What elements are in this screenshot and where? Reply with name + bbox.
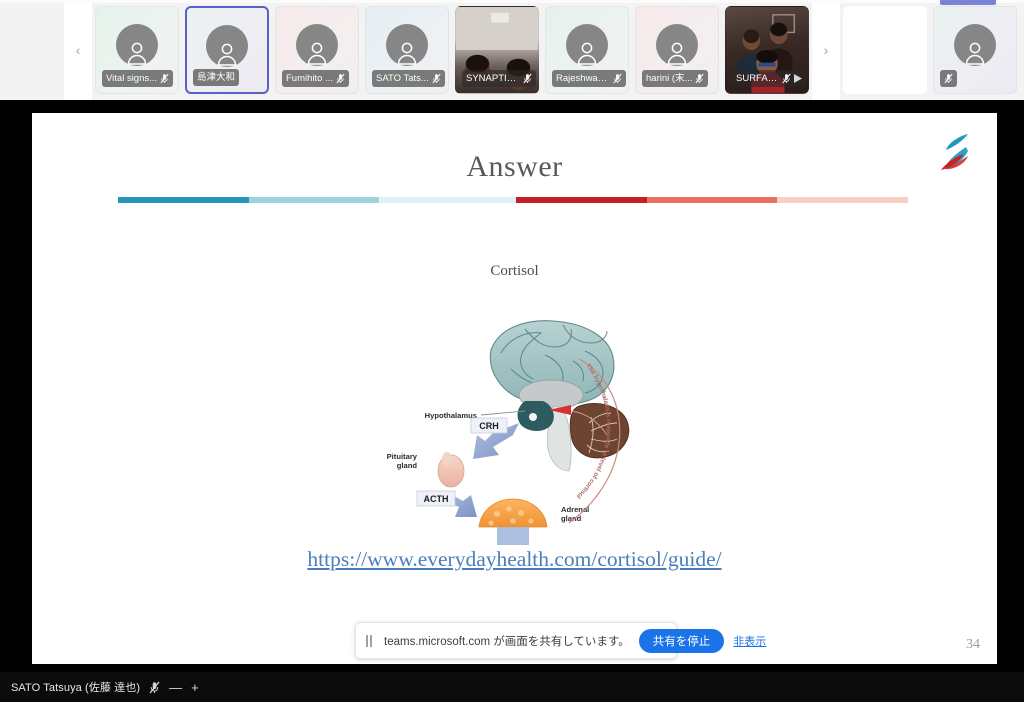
microphone-muted-icon — [944, 73, 953, 84]
participant-name-badge: Vital signs... — [102, 70, 173, 87]
accent-rule-segment — [516, 197, 647, 203]
filmstrip-right-pad — [1020, 0, 1024, 100]
filmstrip-overflow-chip[interactable] — [940, 0, 996, 5]
crh-label: CRH — [479, 421, 499, 431]
pituitary-label-line1: Pituitary — [387, 452, 418, 461]
participant-name: Rajeshwari... — [556, 70, 610, 87]
participant-filmstrip: ‹ Vital signs...島津大和Fumihito ...SATO Tat… — [0, 0, 1024, 100]
accent-rule-segment — [249, 197, 380, 203]
participant-name-badge: Rajeshwari... — [552, 70, 626, 87]
participant-name-badge: SYNAPTIC... — [462, 70, 536, 87]
participant-tile[interactable]: harini (末... — [635, 6, 719, 94]
participant-name: 島津大和 — [197, 69, 235, 86]
zoom-out-button[interactable]: — — [169, 681, 182, 694]
pituitary-stalk — [442, 452, 452, 466]
acth-label: ACTH — [424, 494, 449, 504]
participant-name-badge: harini (末... — [642, 70, 708, 87]
participant-name: Vital signs... — [106, 70, 157, 87]
hide-bar-link[interactable]: 非表示 — [733, 633, 766, 649]
participant-tile[interactable]: SURFACT... — [725, 6, 809, 94]
avatar — [386, 24, 428, 66]
avatar — [296, 24, 338, 66]
participant-name-badge: SATO Tats... — [372, 70, 445, 87]
presentation-slide: Answer Cortisol — [32, 113, 997, 664]
accent-rule-segment — [118, 197, 249, 203]
participant-tile[interactable]: Fumihito ... — [275, 6, 359, 94]
accent-rule-segment — [647, 197, 778, 203]
participant-name-badge: Fumihito ... — [282, 70, 349, 87]
filmstrip-prev-button[interactable]: ‹ — [64, 0, 92, 100]
pituitary-label-line2: gland — [397, 461, 418, 470]
slide-source-link[interactable]: https://www.everydayhealth.com/cortisol/… — [32, 547, 997, 572]
participant-name-badge: 島津大和 — [193, 69, 239, 86]
slide-accent-rule — [118, 197, 908, 203]
microphone-muted-icon — [432, 73, 441, 84]
accent-rule-segment — [379, 197, 516, 203]
microphone-muted-icon — [523, 73, 532, 84]
participant-name: SYNAPTIC... — [466, 70, 520, 87]
participant-tile[interactable] — [933, 6, 1017, 94]
avatar — [656, 24, 698, 66]
shimadzu-swoosh-logo — [935, 131, 979, 173]
filmstrip-next-button[interactable]: › — [812, 0, 840, 100]
microphone-muted-icon[interactable] — [149, 681, 160, 694]
microphone-muted-icon — [782, 73, 791, 84]
participant-name-badge — [940, 70, 957, 87]
shared-screen-stage: Answer Cortisol — [0, 100, 1024, 702]
participant-tile[interactable]: Rajeshwari... — [545, 6, 629, 94]
avatar — [206, 25, 248, 67]
participant-name-badge: SURFACT... — [732, 70, 806, 87]
screen-share-notification-bar: teams.microsoft.com が画面を共有しています。 共有を停止 非… — [355, 622, 677, 659]
local-user-name: SATO Tatsuya (佐藤 達也) — [11, 679, 140, 695]
participant-tile[interactable]: SYNAPTIC... — [455, 6, 539, 94]
filmstrip-blank-slot — [843, 6, 927, 94]
filmstrip-tiles: Vital signs...島津大和Fumihito ...SATO Tats.… — [92, 0, 812, 100]
participant-tile[interactable]: Vital signs... — [95, 6, 179, 94]
filmstrip-left-pad — [0, 0, 32, 100]
video-active-icon — [794, 74, 802, 83]
participant-tile[interactable]: SATO Tats... — [365, 6, 449, 94]
avatar — [566, 24, 608, 66]
zoom-in-button[interactable]: + — [191, 681, 199, 694]
pause-icon — [366, 635, 375, 647]
participant-tile[interactable]: 島津大和 — [185, 6, 269, 94]
page-title: Answer — [32, 150, 997, 184]
slide-page-number: 34 — [966, 637, 980, 653]
bottom-status-bar: SATO Tatsuya (佐藤 達也) — + — [0, 672, 1024, 702]
stop-sharing-button[interactable]: 共有を停止 — [639, 629, 725, 653]
microphone-muted-icon — [613, 73, 622, 84]
filmstrip-tiles-tail — [930, 6, 1020, 94]
hypothalamus-label: Hypothalamus — [425, 411, 477, 420]
avatar — [116, 24, 158, 66]
participant-name: Fumihito ... — [286, 70, 333, 87]
avatar — [954, 24, 996, 66]
source-link-anchor[interactable]: https://www.everydayhealth.com/cortisol/… — [307, 547, 721, 571]
participant-name: SURFACT... — [736, 70, 779, 87]
diagram-caption: Cortisol — [32, 263, 997, 280]
filmstrip-top-divider — [0, 0, 1024, 3]
hpa-axis-diagram: Hypothalamus CRH Pituitary gland — [373, 295, 663, 545]
share-message: teams.microsoft.com が画面を共有しています。 — [384, 633, 630, 649]
participant-name: harini (末... — [646, 70, 692, 87]
accent-rule-segment — [777, 197, 908, 203]
participant-name: SATO Tats... — [376, 70, 429, 87]
microphone-muted-icon — [160, 73, 169, 84]
microphone-muted-icon — [695, 73, 704, 84]
microphone-muted-icon — [336, 73, 345, 84]
